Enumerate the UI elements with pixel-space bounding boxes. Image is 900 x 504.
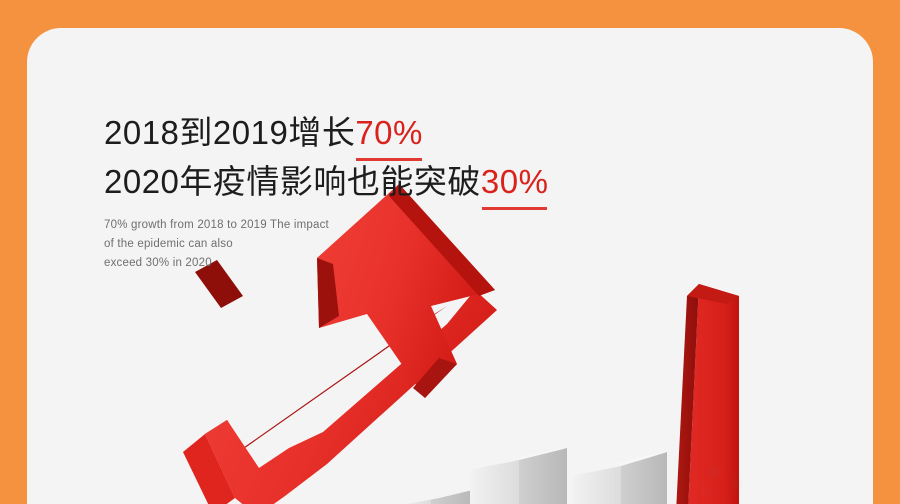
subtitle-line-3: exceed 30% in 2020	[104, 254, 329, 273]
bar-column-2	[470, 448, 567, 504]
bar-column-3	[572, 452, 667, 504]
headline-percent-70: 70%	[355, 114, 423, 151]
headline-percent-30: 30%	[481, 163, 549, 200]
headline-line-1-text: 2018到2019增长	[104, 114, 355, 151]
subtitle-line-1: 70% growth from 2018 to 2019 The impact	[104, 216, 329, 235]
headline-line-2: 2020年疫情影响也能突破30%	[104, 155, 548, 203]
poster-canvas: 2018到2019增长70% 2020年疫情影响也能突破30% 70% grow…	[0, 0, 900, 504]
headline-line-2-text: 2020年疫情影响也能突破	[104, 163, 481, 200]
watermark	[687, 448, 777, 504]
subtitle-line-2: of the epidemic can also	[104, 235, 329, 254]
subtitle-block: 70% growth from 2018 to 2019 The impact …	[104, 216, 329, 273]
content-panel: 2018到2019增长70% 2020年疫情影响也能突破30% 70% grow…	[27, 28, 873, 504]
bar-chart-columns	[397, 448, 667, 504]
headline-line-1: 2018到2019增长70%	[104, 106, 423, 154]
bar-column-1	[397, 490, 473, 504]
